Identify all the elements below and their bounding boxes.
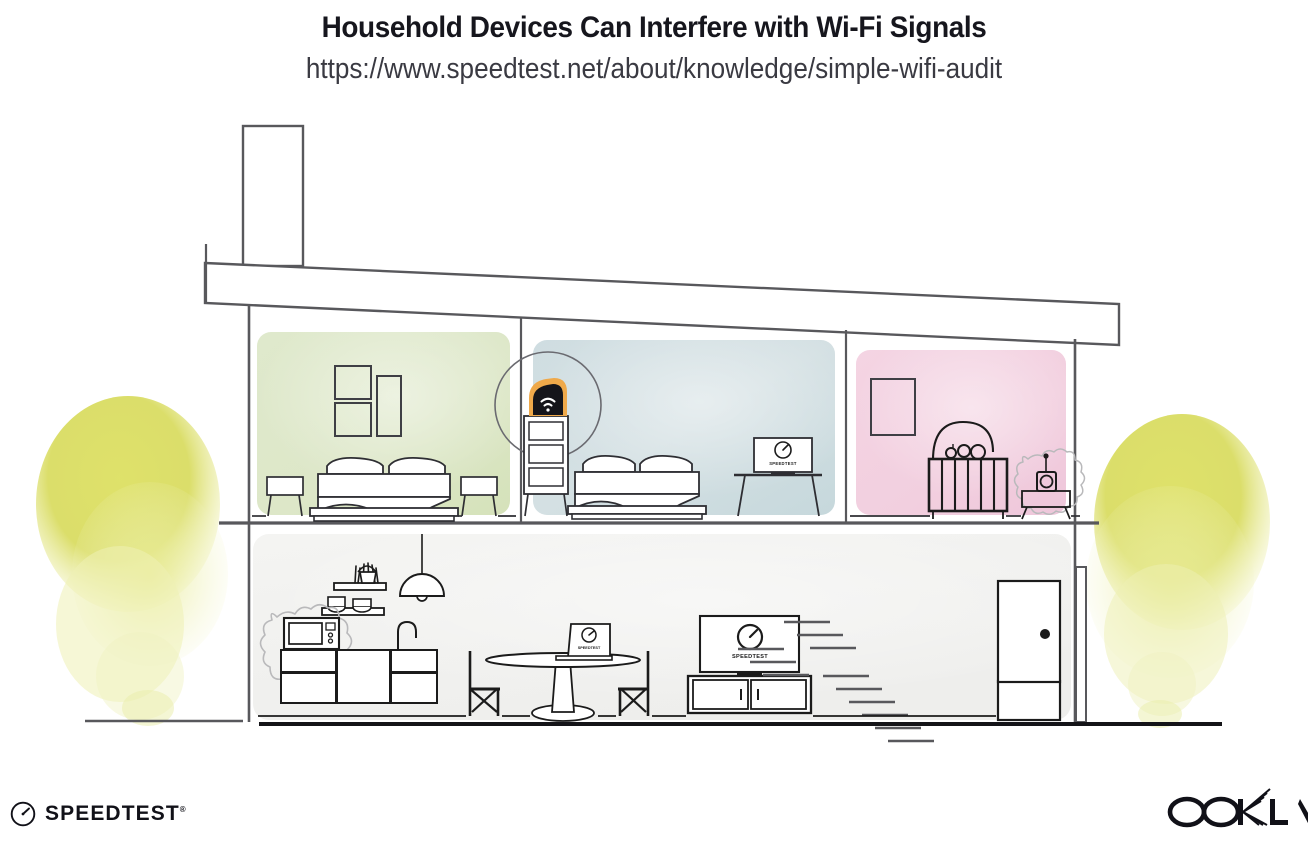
slanted-roof-slab [205, 244, 1119, 345]
door-knob-icon [1040, 629, 1050, 639]
speedtest-trademark: ® [180, 805, 186, 814]
illustration-stage: SPEEDTEST [0, 104, 1308, 754]
room-bedroom-blue: SPEEDTEST [533, 340, 835, 519]
microwave [284, 618, 339, 649]
tree-right [1086, 414, 1270, 728]
tree-left [36, 396, 228, 726]
speedtest-wordmark: SPEEDTEST® [45, 802, 186, 826]
source-url: https://www.speedtest.net/about/knowledg… [65, 51, 1242, 89]
ground-line [85, 721, 1222, 724]
speedtest-gauge-icon [10, 801, 36, 827]
media-console [688, 676, 811, 713]
kitchen-counter [281, 650, 390, 703]
room-bedroom-green [252, 332, 516, 521]
speedtest-wordmark-text: SPEEDTEST [45, 802, 180, 825]
header: Household Devices Can Interfere with Wi-… [0, 0, 1308, 89]
footer: SPEEDTEST® [0, 766, 1308, 861]
page-title: Household Devices Can Interfere with Wi-… [46, 8, 1262, 47]
front-door[interactable] [998, 581, 1060, 720]
ookla-fan-icon [1243, 789, 1270, 825]
laptop-brand-label: SPEEDTEST [578, 646, 601, 650]
chimney [243, 126, 303, 266]
room-nursery-pink [850, 350, 1085, 519]
ookla-wordmark: ® [1166, 787, 1308, 831]
monitor-brand-label: SPEEDTEST [769, 461, 797, 466]
tv-brand-label: SPEEDTEST [732, 654, 768, 660]
ookla-logo: ® [1166, 787, 1308, 831]
television: SPEEDTEST [700, 616, 799, 675]
monitor: SPEEDTEST [754, 438, 812, 475]
speedtest-logo: SPEEDTEST® [10, 801, 186, 827]
infographic-page: Household Devices Can Interfere with Wi-… [0, 0, 1308, 861]
